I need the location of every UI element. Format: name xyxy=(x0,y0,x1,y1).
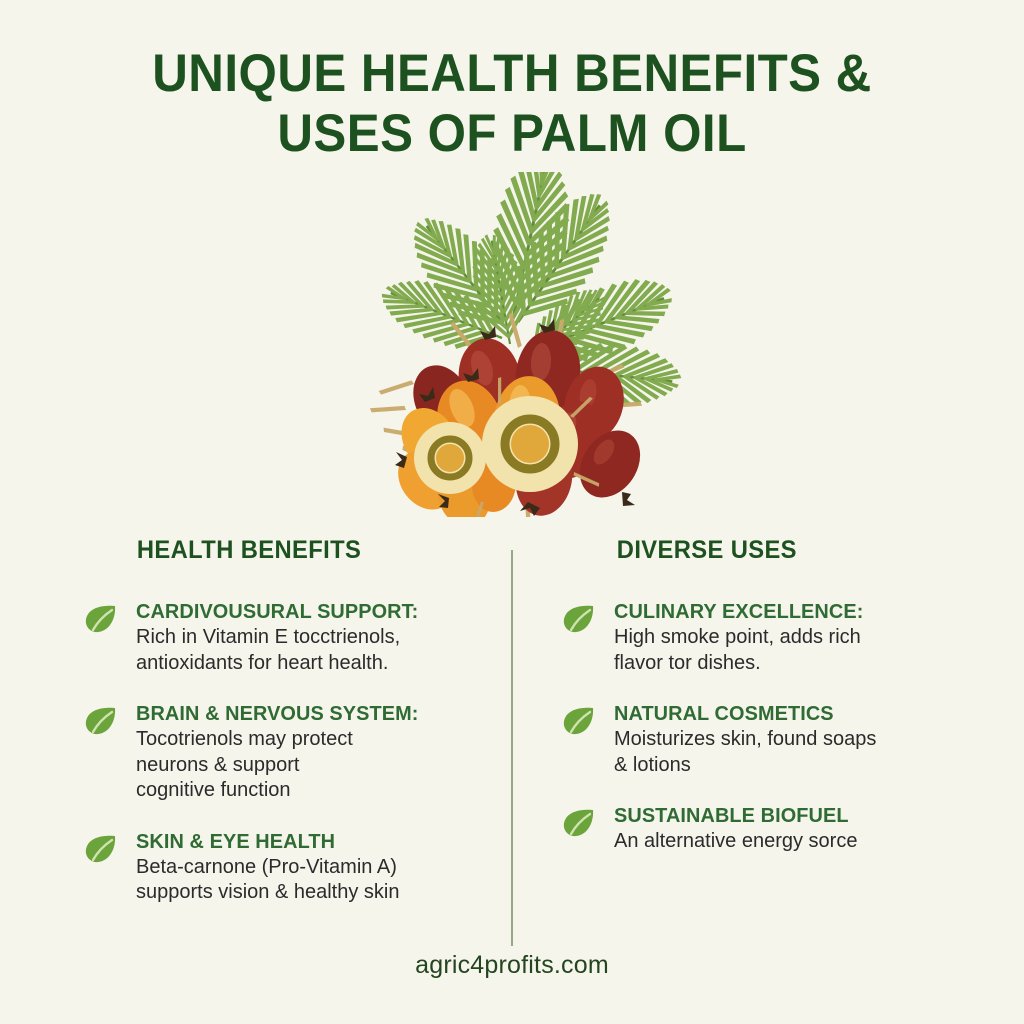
footer-website: agric4profits.com xyxy=(0,951,1024,980)
leaf-icon xyxy=(84,705,118,737)
list-item-title: CARDIVOUSURAL SUPPORT: xyxy=(136,599,487,624)
list-item-title: SKIN & EYE HEALTH xyxy=(136,829,487,854)
palm-fruit-cluster-illustration xyxy=(322,172,712,517)
column-diverse-uses: DIVERSE USES CULINARY EXCELLENCE: High s… xyxy=(556,536,976,880)
title-line-1: UNIQUE HEALTH BENEFITS & xyxy=(94,44,931,104)
column-heading-diverse-uses: DIVERSE USES xyxy=(556,536,955,565)
column-divider xyxy=(511,550,513,946)
column-health-benefits: HEALTH BENEFITS CARDIVOUSURAL SUPPORT: R… xyxy=(78,536,498,931)
list-item: CULINARY EXCELLENCE: High smoke point, a… xyxy=(556,599,976,676)
list-item-body: Moisturizes skin, found soaps & lotions xyxy=(614,727,976,778)
list-item-body: Rich in Vitamin E tocctrienols, antioxid… xyxy=(136,625,498,676)
list-item-body: An alternative energy sorce xyxy=(614,829,976,855)
list-item-title: SUSTAINABLE BIOFUEL xyxy=(614,803,965,828)
list-item: SKIN & EYE HEALTH Beta-carnone (Pro-Vita… xyxy=(78,829,498,906)
list-item-body: Beta-carnone (Pro-Vitamin A) supports vi… xyxy=(136,855,498,906)
infographic-page: UNIQUE HEALTH BENEFITS & USES OF PALM OI… xyxy=(0,0,1024,1024)
list-item-title: NATURAL COSMETICS xyxy=(614,701,965,726)
list-item-title: BRAIN & NERVOUS SYSTEM: xyxy=(136,701,487,726)
list-item: CARDIVOUSURAL SUPPORT: Rich in Vitamin E… xyxy=(78,599,498,676)
content-columns: HEALTH BENEFITS CARDIVOUSURAL SUPPORT: R… xyxy=(0,536,1024,956)
leaf-icon xyxy=(562,807,596,839)
leaf-icon xyxy=(562,603,596,635)
list-item: SUSTAINABLE BIOFUEL An alternative energ… xyxy=(556,803,976,855)
column-heading-health-benefits: HEALTH BENEFITS xyxy=(78,536,477,565)
list-item: BRAIN & NERVOUS SYSTEM: Tocotrienols may… xyxy=(78,701,498,804)
title-line-2: USES OF PALM OIL xyxy=(94,104,931,164)
fruit-cross-section-small xyxy=(414,422,486,494)
leaf-icon xyxy=(84,603,118,635)
page-title: UNIQUE HEALTH BENEFITS & USES OF PALM OI… xyxy=(62,44,962,164)
list-item-body: Tocotrienols may protect neurons & suppo… xyxy=(136,727,498,804)
fruit-cross-section-large xyxy=(482,396,578,492)
list-item: NATURAL COSMETICS Moisturizes skin, foun… xyxy=(556,701,976,778)
list-item-body: High smoke point, adds rich flavor tor d… xyxy=(614,625,976,676)
leaf-icon xyxy=(84,833,118,865)
list-item-title: CULINARY EXCELLENCE: xyxy=(614,599,965,624)
leaf-icon xyxy=(562,705,596,737)
